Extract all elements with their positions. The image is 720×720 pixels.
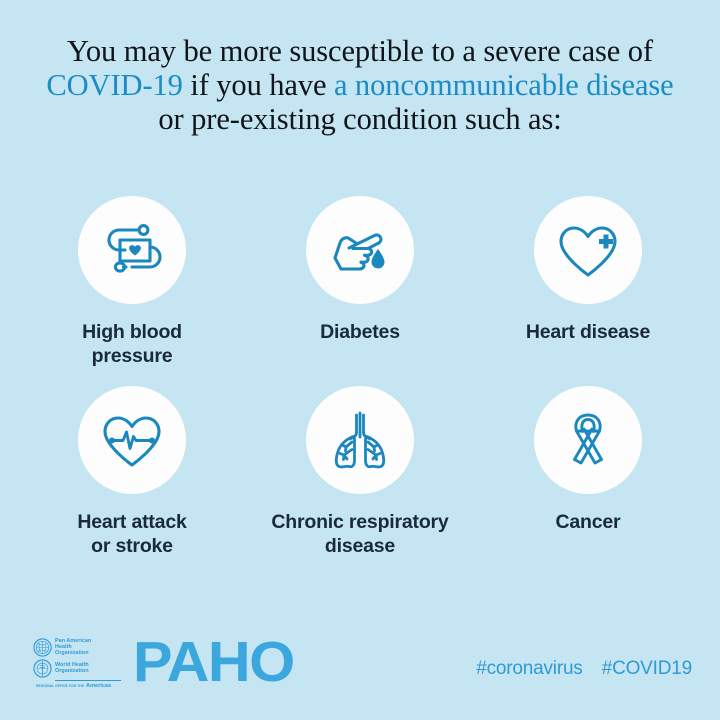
condition-high-blood-pressure: High blood pressure [18,196,246,368]
conditions-row-2: Heart attack or stroke [0,386,720,558]
paho-logo[interactable]: Pan American Health Organization World H… [33,634,287,691]
condition-heart-attack-or-stroke: Heart attack or stroke [18,386,246,558]
conditions-grid: High blood pressure [0,196,720,558]
condition-label: High blood pressure [82,320,182,368]
world-health-organization-seal-row: World Health Organization [33,658,121,679]
headline-ncd-term: a noncommunicable disease [334,68,674,102]
pan-american-health-organization-label: Pan American Health Organization [55,638,91,656]
heart-glyph [129,245,141,255]
page-title: You may be more susceptible to a severe … [0,34,720,136]
headline-line-2-mid: if you have [183,68,334,102]
paho-wordmark: PAHO [133,634,294,691]
icon-disc [78,386,186,494]
condition-cancer: Cancer [474,386,702,534]
condition-heart-disease: Heart disease [474,196,702,344]
logo-divider [55,680,121,681]
icon-disc [78,196,186,304]
world-health-organization-label: World Health Organization [55,662,89,674]
logo-tagline-region: REGIONAL OFFICE FOR THE [36,684,84,688]
footer: Pan American Health Organization World H… [0,620,720,720]
icon-disc [534,386,642,494]
awareness-ribbon-icon [551,403,625,477]
condition-diabetes: Diabetes [246,196,474,344]
hashtag-covid19[interactable]: #COVID19 [602,658,692,679]
who-emblem-icon [33,659,52,678]
condition-chronic-respiratory-disease: Chronic respiratory disease [246,386,474,558]
logo-tagline: REGIONAL OFFICE FOR THE Americas [36,683,121,689]
logo-seals: Pan American Health Organization World H… [33,637,121,689]
condition-label: Heart attack or stroke [77,510,186,558]
condition-label: Cancer [556,510,621,534]
logo-tagline-americas: Americas [86,683,111,689]
icon-disc [306,196,414,304]
condition-label: Diabetes [320,320,400,344]
blood-drop-glyph [372,249,385,268]
medical-cross-glyph [599,235,613,249]
condition-label: Heart disease [526,320,650,344]
icon-disc [534,196,642,304]
heart-with-ecg-icon [95,403,169,477]
paho-globe-seal-icon [33,638,52,657]
ecg-right-dot [149,438,155,444]
heart-with-cross-icon [551,213,625,287]
condition-label: Chronic respiratory disease [271,510,448,558]
hashtags: #coronavirus #COVID19 [476,658,692,680]
icon-disc [306,386,414,494]
conditions-row-1: High blood pressure [0,196,720,368]
headline-line-3: or pre-existing condition such as: [0,102,720,136]
headline-line-2: COVID-19 if you have a noncommunicable d… [0,68,720,102]
blood-pressure-monitor-icon [95,213,169,287]
lungs-icon [323,403,397,477]
headline-covid-term: COVID-19 [46,68,182,102]
hashtag-coronavirus[interactable]: #coronavirus [476,658,582,679]
pan-american-health-organization-seal-row: Pan American Health Organization [33,637,121,658]
headline-line-1: You may be more susceptible to a severe … [0,34,720,68]
ecg-left-dot [109,438,115,444]
finger-blood-drop-icon [323,213,397,287]
